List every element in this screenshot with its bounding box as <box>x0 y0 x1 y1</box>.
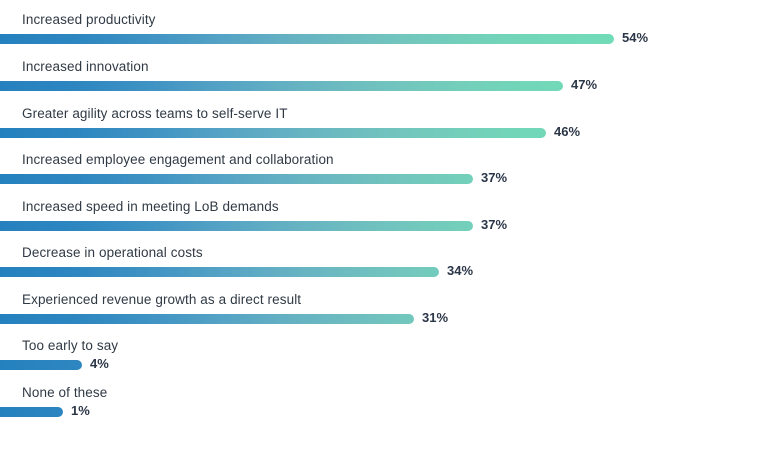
bar-fill[interactable] <box>0 267 439 277</box>
bar-fill[interactable] <box>0 128 546 138</box>
bar-value-label: 54% <box>622 28 648 48</box>
bar-row[interactable]: Decrease in operational costs 34% <box>0 245 770 291</box>
bar-value-label: 34% <box>447 261 473 281</box>
bar-category-label: Increased employee engagement and collab… <box>22 152 334 168</box>
bar-track <box>0 360 770 370</box>
bar-value-label: 4% <box>90 354 109 374</box>
bar-value-label: 1% <box>71 401 90 421</box>
bar-fill[interactable] <box>0 407 63 417</box>
bar-track <box>0 407 770 417</box>
bar-track <box>0 221 770 231</box>
bar-row[interactable]: Increased innovation 47% <box>0 59 770 105</box>
bar-track <box>0 81 770 91</box>
bar-value-label: 47% <box>571 75 597 95</box>
bar-row[interactable]: Increased productivity 54% <box>0 12 770 58</box>
bar-row[interactable]: Greater agility across teams to self-ser… <box>0 106 770 152</box>
bar-row[interactable]: Experienced revenue growth as a direct r… <box>0 292 770 338</box>
bar-category-label: Increased speed in meeting LoB demands <box>22 199 279 215</box>
bar-track <box>0 128 770 138</box>
bar-track <box>0 267 770 277</box>
bar-category-label: Too early to say <box>22 338 118 354</box>
bar-value-label: 37% <box>481 215 507 235</box>
bar-track <box>0 34 770 44</box>
bar-fill[interactable] <box>0 221 473 231</box>
bar-row[interactable]: Increased employee engagement and collab… <box>0 152 770 198</box>
bar-value-label: 37% <box>481 168 507 188</box>
bar-value-label: 31% <box>422 308 448 328</box>
bar-category-label: Experienced revenue growth as a direct r… <box>22 292 301 308</box>
bar-track <box>0 314 770 324</box>
bar-category-label: Decrease in operational costs <box>22 245 203 261</box>
bar-row[interactable]: Increased speed in meeting LoB demands 3… <box>0 199 770 245</box>
bar-row[interactable]: Too early to say 4% <box>0 338 770 384</box>
bar-fill[interactable] <box>0 314 414 324</box>
bar-category-label: Increased productivity <box>22 12 156 28</box>
horizontal-bar-chart: Increased productivity 54% Increased inn… <box>0 0 770 450</box>
bar-fill[interactable] <box>0 81 563 91</box>
bar-category-label: Greater agility across teams to self-ser… <box>22 106 288 122</box>
bar-track <box>0 174 770 184</box>
bar-fill[interactable] <box>0 174 473 184</box>
bar-category-label: None of these <box>22 385 107 401</box>
bar-value-label: 46% <box>554 122 580 142</box>
bar-fill[interactable] <box>0 360 82 370</box>
chart-plot-area: Increased productivity 54% Increased inn… <box>0 0 770 450</box>
bar-row[interactable]: None of these 1% <box>0 385 770 431</box>
bar-category-label: Increased innovation <box>22 59 149 75</box>
bar-fill[interactable] <box>0 34 614 44</box>
